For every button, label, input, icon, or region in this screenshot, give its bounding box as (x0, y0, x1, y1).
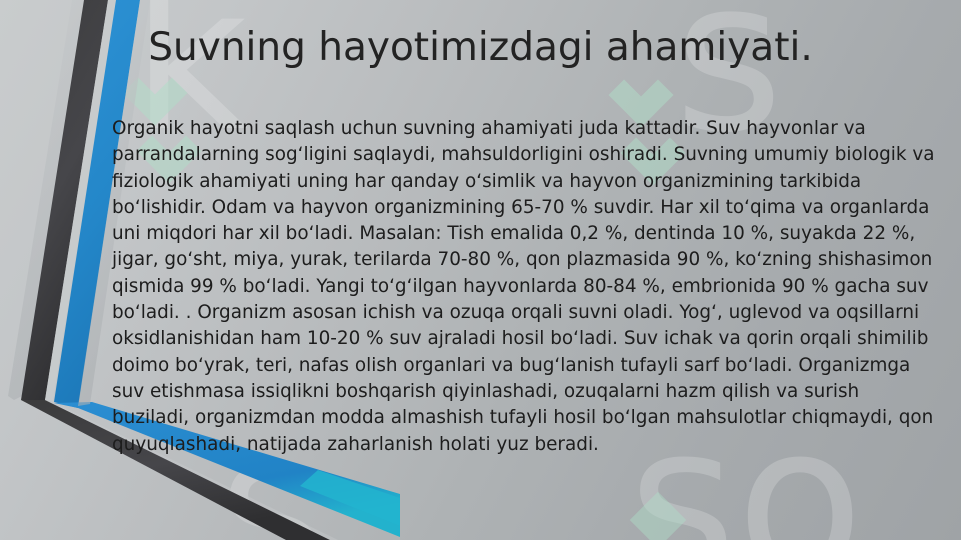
slide-body-text: Organik hayotni saqlash uchun suvning ah… (112, 116, 936, 458)
presentation-slide: s so s k (0, 0, 961, 540)
border-stripe-teal-accent (300, 470, 400, 526)
watermark-diamond-green (630, 492, 687, 540)
slide-title: Suvning hayotimizdagi ahamiyati. (0, 26, 961, 71)
